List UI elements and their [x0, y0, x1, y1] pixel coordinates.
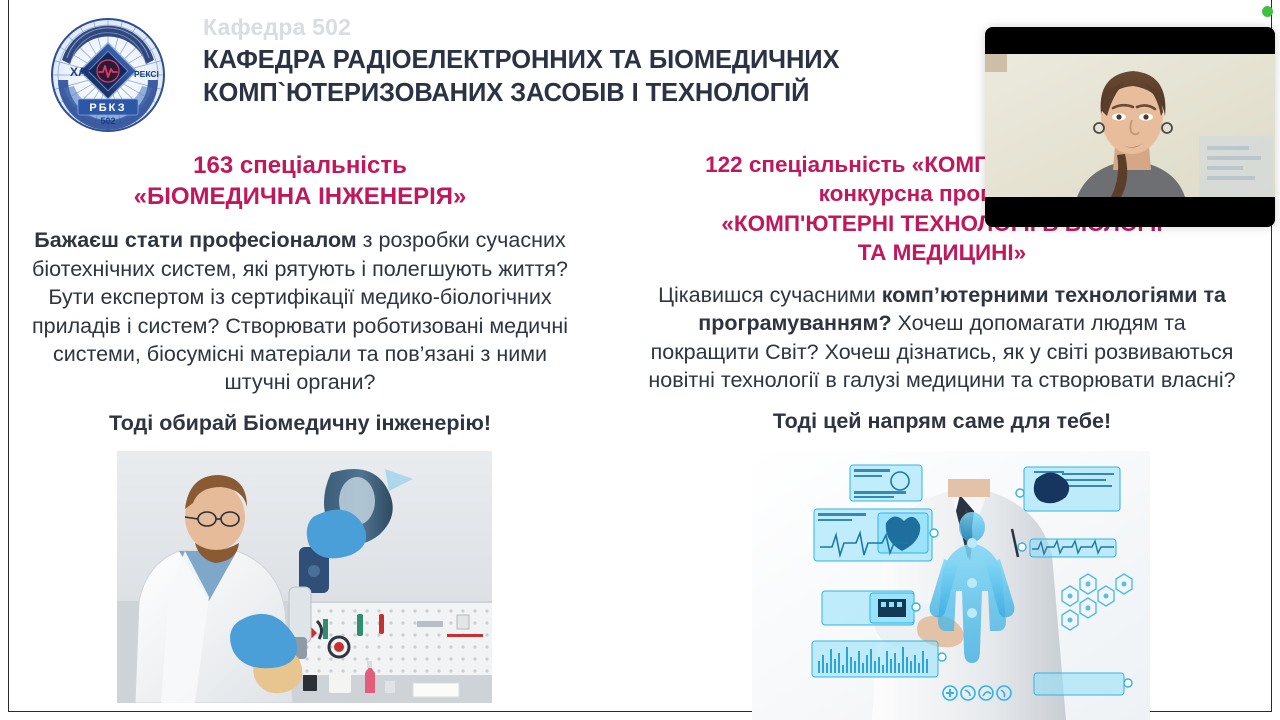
specialty-body-left-rest: з розробки сучасних біотехнічних систем,…: [32, 228, 568, 394]
logo-number: 502: [100, 116, 115, 126]
webcam-video-overlay[interactable]: [985, 27, 1275, 227]
webcam-letterbox-bottom: [985, 197, 1275, 227]
column-biomedical-engineering: 163 спеціальність «БІОМЕДИЧНА ІНЖЕНЕРІЯ»…: [30, 150, 570, 437]
page-title-line-1: КАФЕДРА РАДІОЕЛЕКТРОННИХ ТА БІОМЕДИЧНИХ: [203, 44, 993, 77]
specialty-body-right-pre: Цікавишся сучасними: [658, 283, 882, 307]
logo-abbr-right: РЕКСІ: [134, 69, 159, 79]
specialty-cta-right: Тоді цей напрям саме для тебе!: [648, 407, 1236, 435]
photo-prosthetics-lab: [117, 451, 492, 703]
photo-medical-hologram: [752, 451, 1150, 720]
department-emblem-logo: ХАІ РЕКСІ РБКЗ 502: [38, 14, 178, 136]
specialty-body-right: Цікавишся сучасними комп’ютерними технол…: [648, 281, 1236, 435]
specialty-body-left-lead: Бажаєш стати професіоналом: [34, 228, 356, 252]
webcam-letterbox-top: [985, 27, 1275, 54]
specialty-heading-left-line-1: 163 спеціальність: [30, 150, 570, 181]
specialty-cta-left: Тоді обирай Біомедичну інженерію!: [30, 409, 570, 437]
logo-banner-text: РБКЗ: [89, 102, 126, 114]
header-eyebrow: Кафедра 502: [203, 14, 993, 40]
page-title: КАФЕДРА РАДІОЕЛЕКТРОННИХ ТА БІОМЕДИЧНИХ …: [203, 44, 993, 109]
speaking-indicator-dot: [1262, 6, 1273, 17]
slide-header: Кафедра 502 КАФЕДРА РАДІОЕЛЕКТРОННИХ ТА …: [203, 14, 993, 110]
specialty-heading-left-line-2: «БІОМЕДИЧНА ІНЖЕНЕРІЯ»: [30, 181, 570, 212]
presentation-slide: ХАІ РЕКСІ РБКЗ 502 Кафедра 502 КАФЕДРА Р…: [0, 0, 1280, 720]
page-title-line-2: КОМП`ЮТЕРИЗОВАНИХ ЗАСОБІВ І ТЕХНОЛОГІЙ: [203, 77, 993, 110]
logo-abbr-left: ХАІ: [70, 65, 90, 79]
specialty-heading-right-line-4: ТА МЕДИЦИНІ»: [648, 238, 1236, 267]
webcam-video-feed: [985, 54, 1275, 197]
specialty-body-left: Бажаєш стати професіоналом з розробки су…: [30, 226, 570, 437]
specialty-heading-left: 163 спеціальність «БІОМЕДИЧНА ІНЖЕНЕРІЯ»: [30, 150, 570, 212]
